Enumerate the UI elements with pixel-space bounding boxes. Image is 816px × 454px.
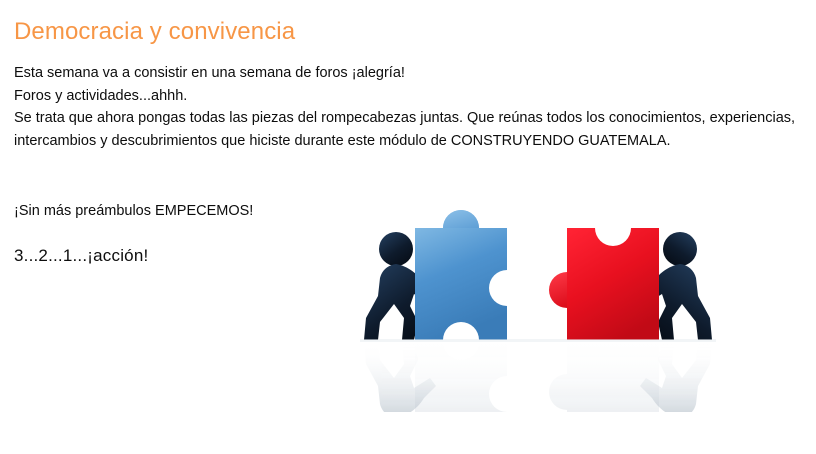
- body-text-block: Esta semana va a consistir en una semana…: [14, 62, 804, 152]
- body-line-2: Foros y actividades...ahhh.: [14, 85, 804, 108]
- body-line-1: Esta semana va a consistir en una semana…: [14, 62, 804, 85]
- puzzle-illustration: [352, 200, 724, 412]
- countdown-line: 3...2...1...¡acción!: [14, 244, 148, 268]
- page-title: Democracia y convivencia: [14, 17, 295, 47]
- slide-canvas: Democracia y convivencia Esta semana va …: [0, 0, 816, 454]
- body-line-3: Se trata que ahora pongas todas las piez…: [14, 107, 804, 152]
- blue-puzzle-piece: [415, 210, 525, 358]
- empecemos-line: ¡Sin más preámbulos EMPECEMOS!: [14, 200, 253, 222]
- red-puzzle-piece: [549, 210, 659, 340]
- reflection-group: [364, 336, 712, 412]
